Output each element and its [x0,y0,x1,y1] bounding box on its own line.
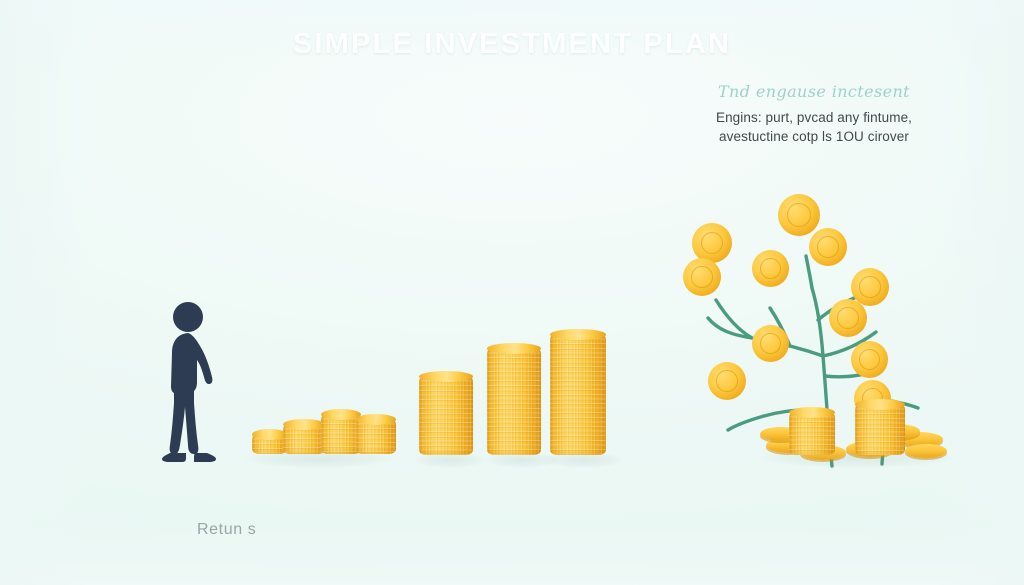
coin-stack-1 [252,434,287,454]
coin-stack-2 [283,424,325,454]
coin-stack-7 [550,334,606,455]
base-coin-stack-right [855,404,905,455]
coin-stack-4 [356,419,396,454]
tree-coin-upper-left [692,223,732,263]
tree-coin-right-mid [829,299,867,337]
returns-caption: Retun s [197,521,256,539]
base-coin-flat-4 [905,444,947,458]
tree-coin-upper-right [809,228,847,266]
base-coin-stack-left [789,412,835,455]
page-title: SIMPLE INVESTMENT PLAN [0,28,1024,61]
annotation-block: Tnd engause inctesent Engins: purt, pvca… [700,82,928,146]
coin-stack-6 [487,348,541,455]
coin-stack-5 [419,376,473,455]
investor-silhouette-icon [158,300,228,470]
tree-coin-left-low [752,325,789,362]
annotation-script-line: Tnd engause inctesent [700,82,928,101]
annotation-body: Engins: purt, pvcad any fintume, avestuc… [700,108,928,146]
tree-coin-bottom-left [708,362,746,400]
illustration-canvas: SIMPLE INVESTMENT PLAN Tnd engause incte… [0,0,1024,585]
tree-coin-top [778,194,820,236]
coin-stack-3 [321,414,361,454]
annotation-body-line-1: Engins: purt, pvcad any fintume, [700,108,928,127]
tree-coin-center-left [752,250,789,287]
tree-coin-right-low [851,341,888,378]
tree-coin-left-lower [683,258,721,296]
annotation-body-line-2: avestuctine cotp ls 1OU cirover [700,127,928,146]
